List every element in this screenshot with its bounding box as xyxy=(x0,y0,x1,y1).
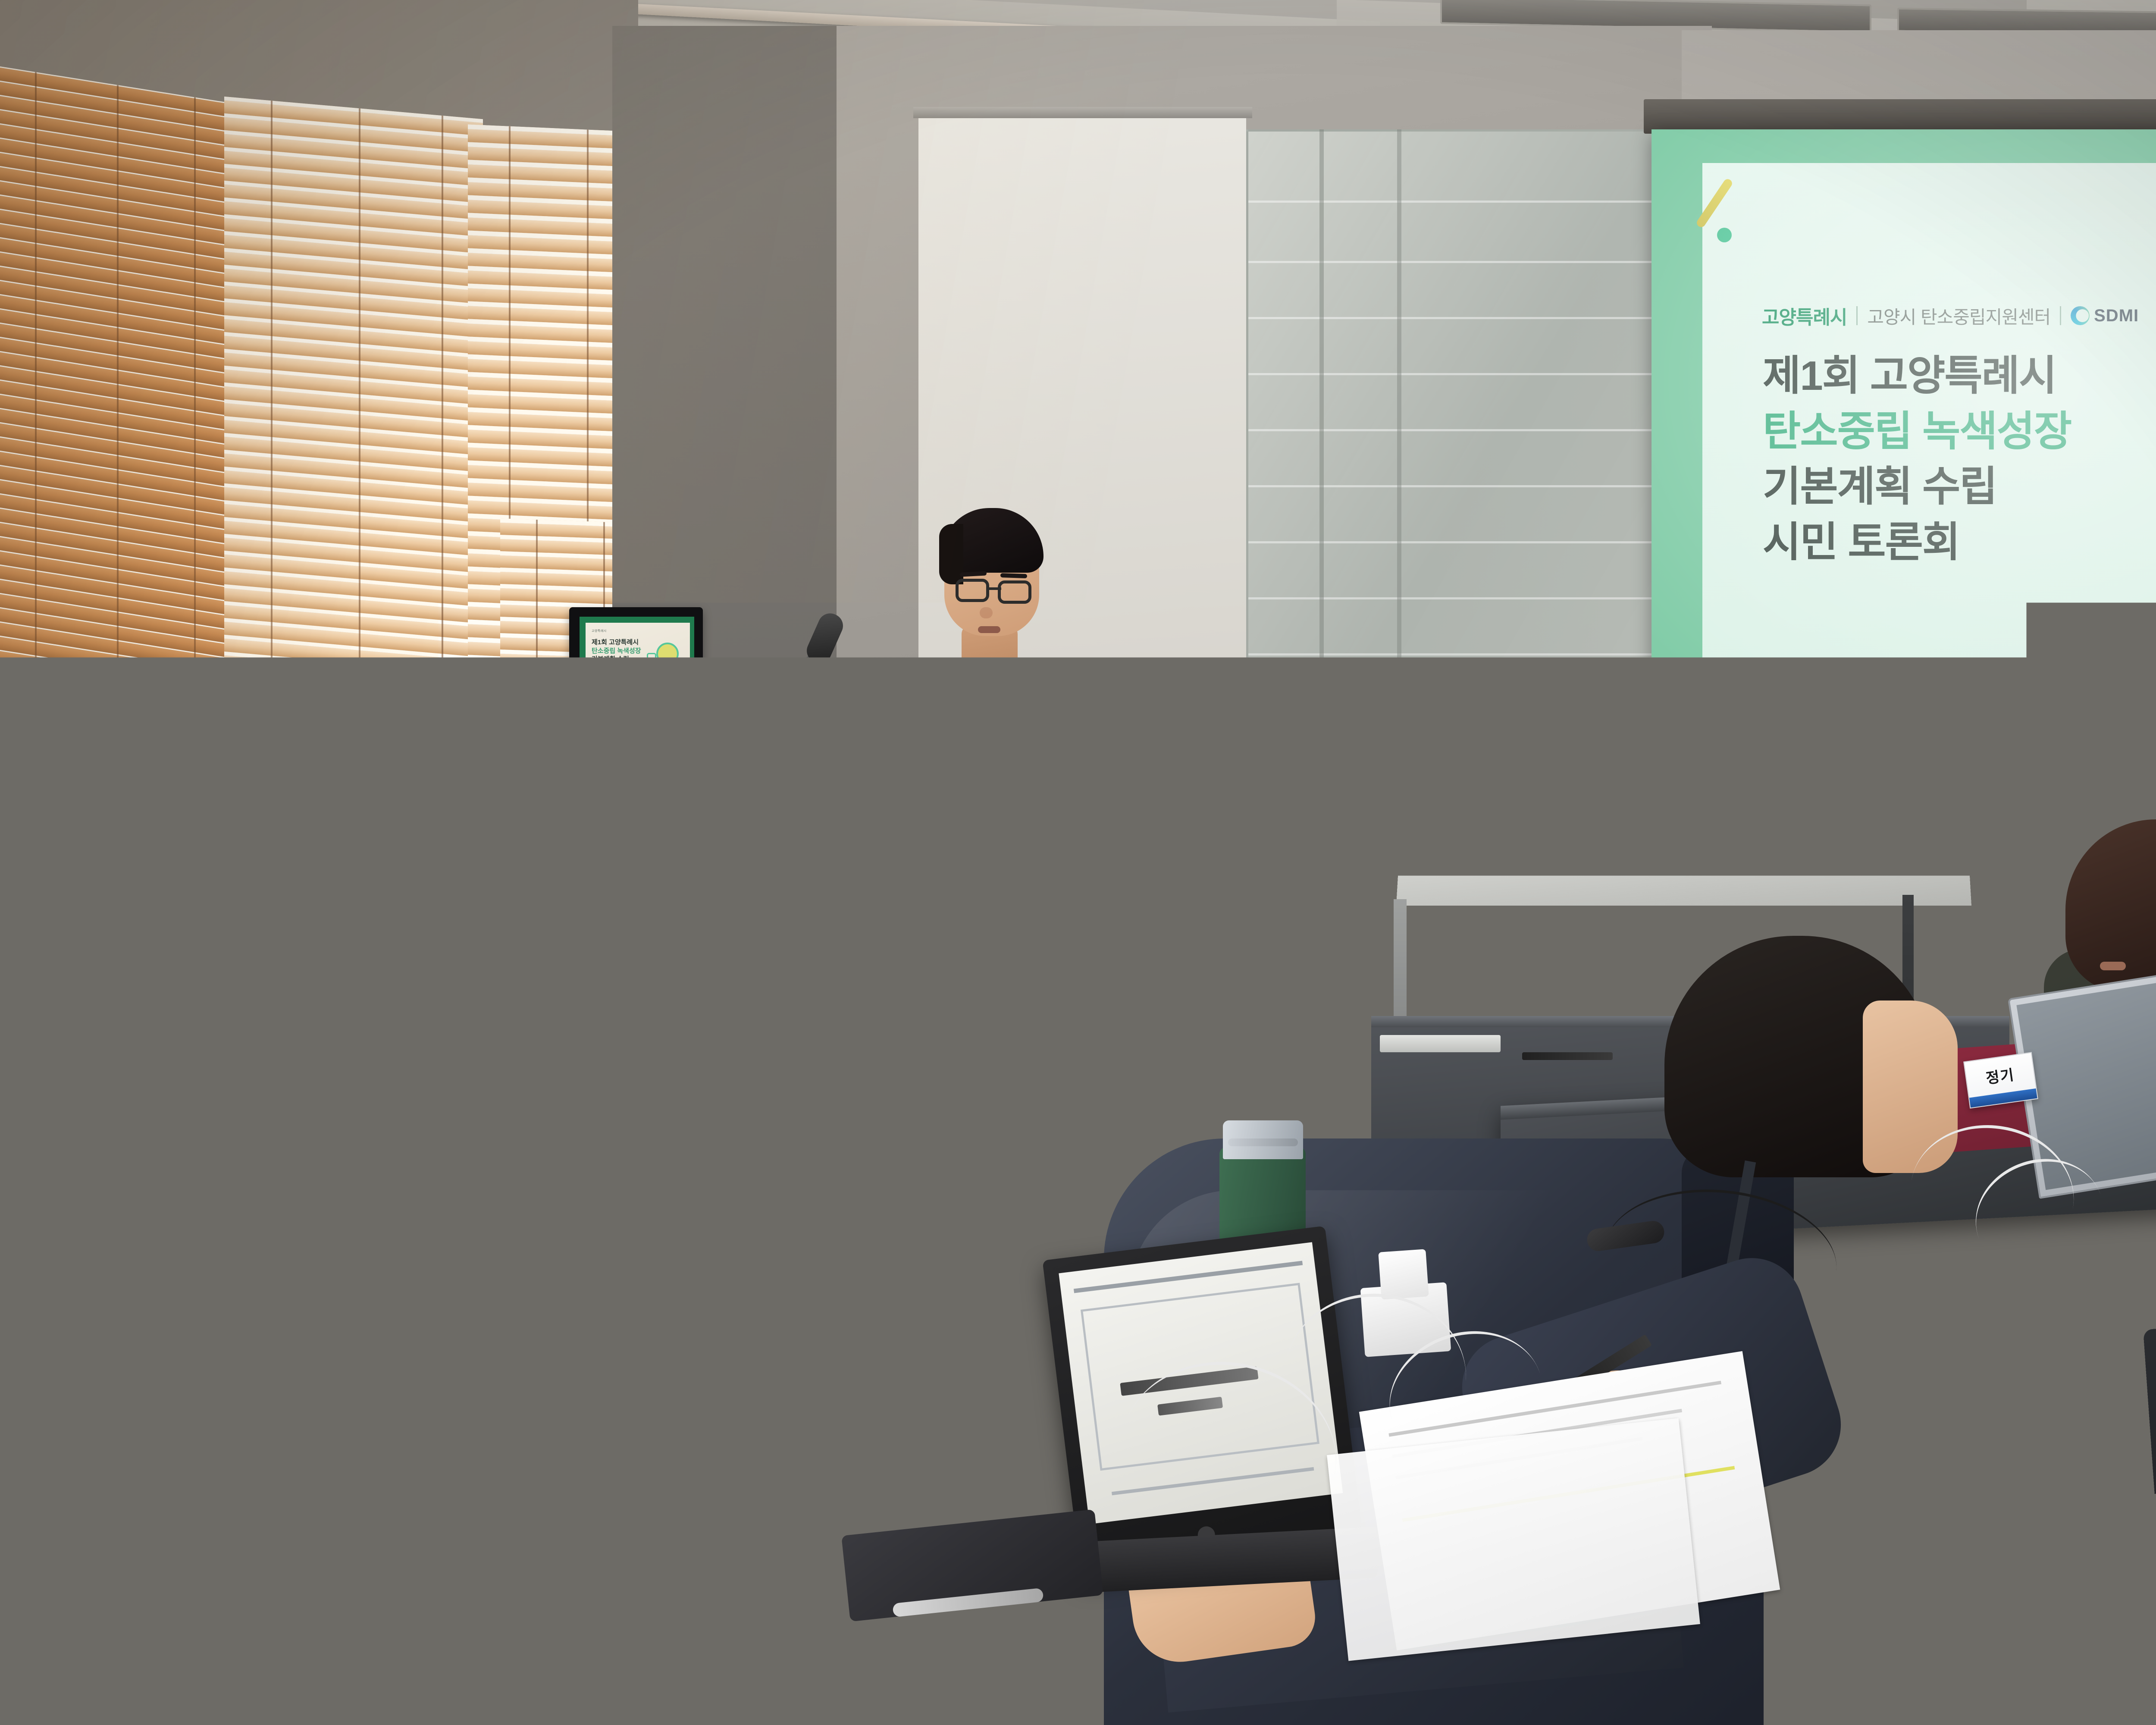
presenter-glasses xyxy=(956,579,989,602)
monitor-title-line-1: 제1회 고양특례시 xyxy=(592,638,641,647)
nameplate-right: 정기 xyxy=(1963,1052,2038,1108)
window-blinds-left[interactable] xyxy=(0,65,233,776)
projection-screen[interactable]: 고양특례시 고양시 탄소중립지원센터 SDMI 제1회 고양특례시 탄소중립 녹… xyxy=(1651,129,2156,850)
white-pen-center xyxy=(785,1103,880,1113)
document-center xyxy=(716,1086,914,1157)
slide-title-line-3: 기본계획 수립 xyxy=(1763,459,2156,515)
nameplate-right-name: 정기 xyxy=(1965,1060,2035,1090)
slide-logo-row: 고양특례시 고양시 탄소중립지원센터 SDMI xyxy=(1762,302,2139,329)
sdmi-logo-text: SDMI xyxy=(2094,306,2139,326)
paperclip-dot-icon xyxy=(1717,228,1732,242)
logo-divider-1 xyxy=(1856,306,1858,325)
monitor-title-line-2: 탄소중립 녹색성장 xyxy=(592,647,641,655)
slide-title-line-1: 제1회 고양특례시 xyxy=(1763,348,2156,404)
projector-screen-housing xyxy=(1644,99,2156,134)
side-desk-top xyxy=(1396,875,1971,906)
monitor-logo-text: 고양특례시 xyxy=(592,630,607,633)
slide-title-line-2: 탄소중립 녹색성장 xyxy=(1763,404,2156,460)
meeting-room-photo: 고양특례시 고양시 탄소중립지원센터 SDMI 제1회 고양특례시 탄소중립 녹… xyxy=(0,0,2156,1725)
power-plug xyxy=(1378,1249,1429,1299)
slide-title-block: 제1회 고양특례시 탄소중립 녹색성장 기본계획 수립 시민 토론회 xyxy=(1763,348,2156,571)
tumbler-lid xyxy=(667,954,722,968)
whiteboard-top-rail xyxy=(913,107,1252,118)
participant-left-2-glasses[interactable] xyxy=(172,832,225,867)
logo-divider-2 xyxy=(2060,306,2061,325)
document-right xyxy=(2097,1230,2156,1332)
slide-card: 고양특례시 고양시 탄소중립지원센터 SDMI 제1회 고양특례시 탄소중립 녹… xyxy=(1702,163,2156,803)
center-logo-text: 고양시 탄소중립지원센터 xyxy=(1867,303,2050,329)
podium-top-edge xyxy=(735,740,1050,760)
nameplate-center-kim: 탄소중립지원협의체시민위원 김경영 xyxy=(529,1104,673,1182)
bottle-label xyxy=(998,1427,1071,1492)
sdmi-logo: SDMI xyxy=(2071,306,2139,326)
marker-pen xyxy=(1522,1052,1613,1060)
slide-bottom-rule xyxy=(1763,719,2156,721)
participant-left-3-glasses[interactable] xyxy=(630,801,678,833)
laptop-sticker xyxy=(928,979,994,1020)
window-blinds-center[interactable] xyxy=(224,97,483,775)
juice-bottle-left xyxy=(423,1065,467,1190)
microphone-capsule-center xyxy=(496,1048,543,1078)
slide-date: 2024. 10. 30. xyxy=(1764,678,1925,709)
city-logo-text: 고양특례시 xyxy=(1762,302,1847,329)
monitor-title-line-3: 기본계획 수립 xyxy=(592,655,641,664)
nameplate-kim-name: 김경영 xyxy=(530,1115,671,1164)
monitor-title-line-4: 시민 토론회 xyxy=(592,664,641,672)
sdmi-mark-icon xyxy=(2071,306,2090,325)
paper-tray xyxy=(1380,1035,1501,1052)
red-bottle-corner xyxy=(0,1673,39,1725)
slide-title-line-4: 시민 토론회 xyxy=(1763,515,2156,571)
